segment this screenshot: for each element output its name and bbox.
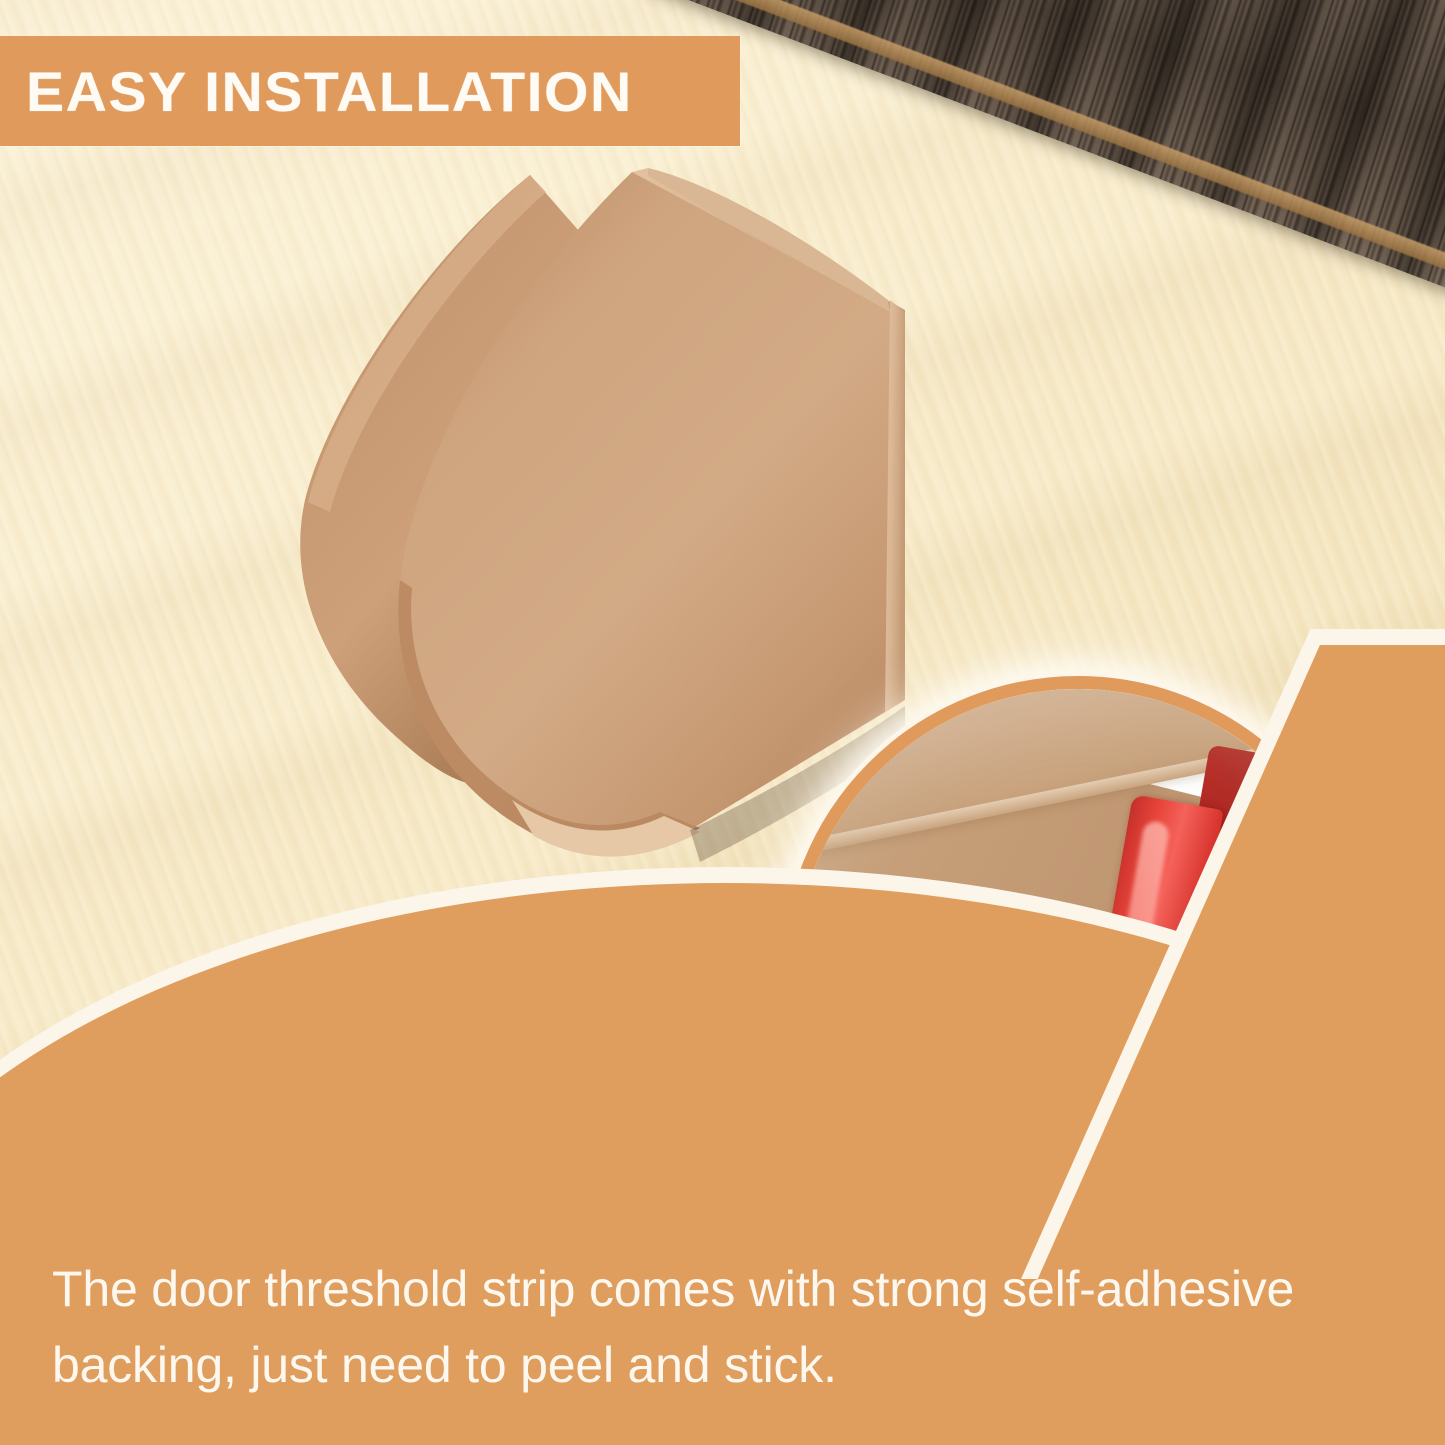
headline-banner: EASY INSTALLATION xyxy=(0,36,740,146)
product-marketing-image: The door threshold strip comes with stro… xyxy=(0,0,1445,1445)
footer-caption: The door threshold strip comes with stro… xyxy=(52,1251,1402,1403)
caption-line-2: backing, just need to peel and stick. xyxy=(52,1327,1402,1403)
caption-line-1: The door threshold strip comes with stro… xyxy=(52,1251,1402,1327)
footer-panel: The door threshold strip comes with stro… xyxy=(0,1115,1445,1445)
headline-text: EASY INSTALLATION xyxy=(26,59,633,124)
